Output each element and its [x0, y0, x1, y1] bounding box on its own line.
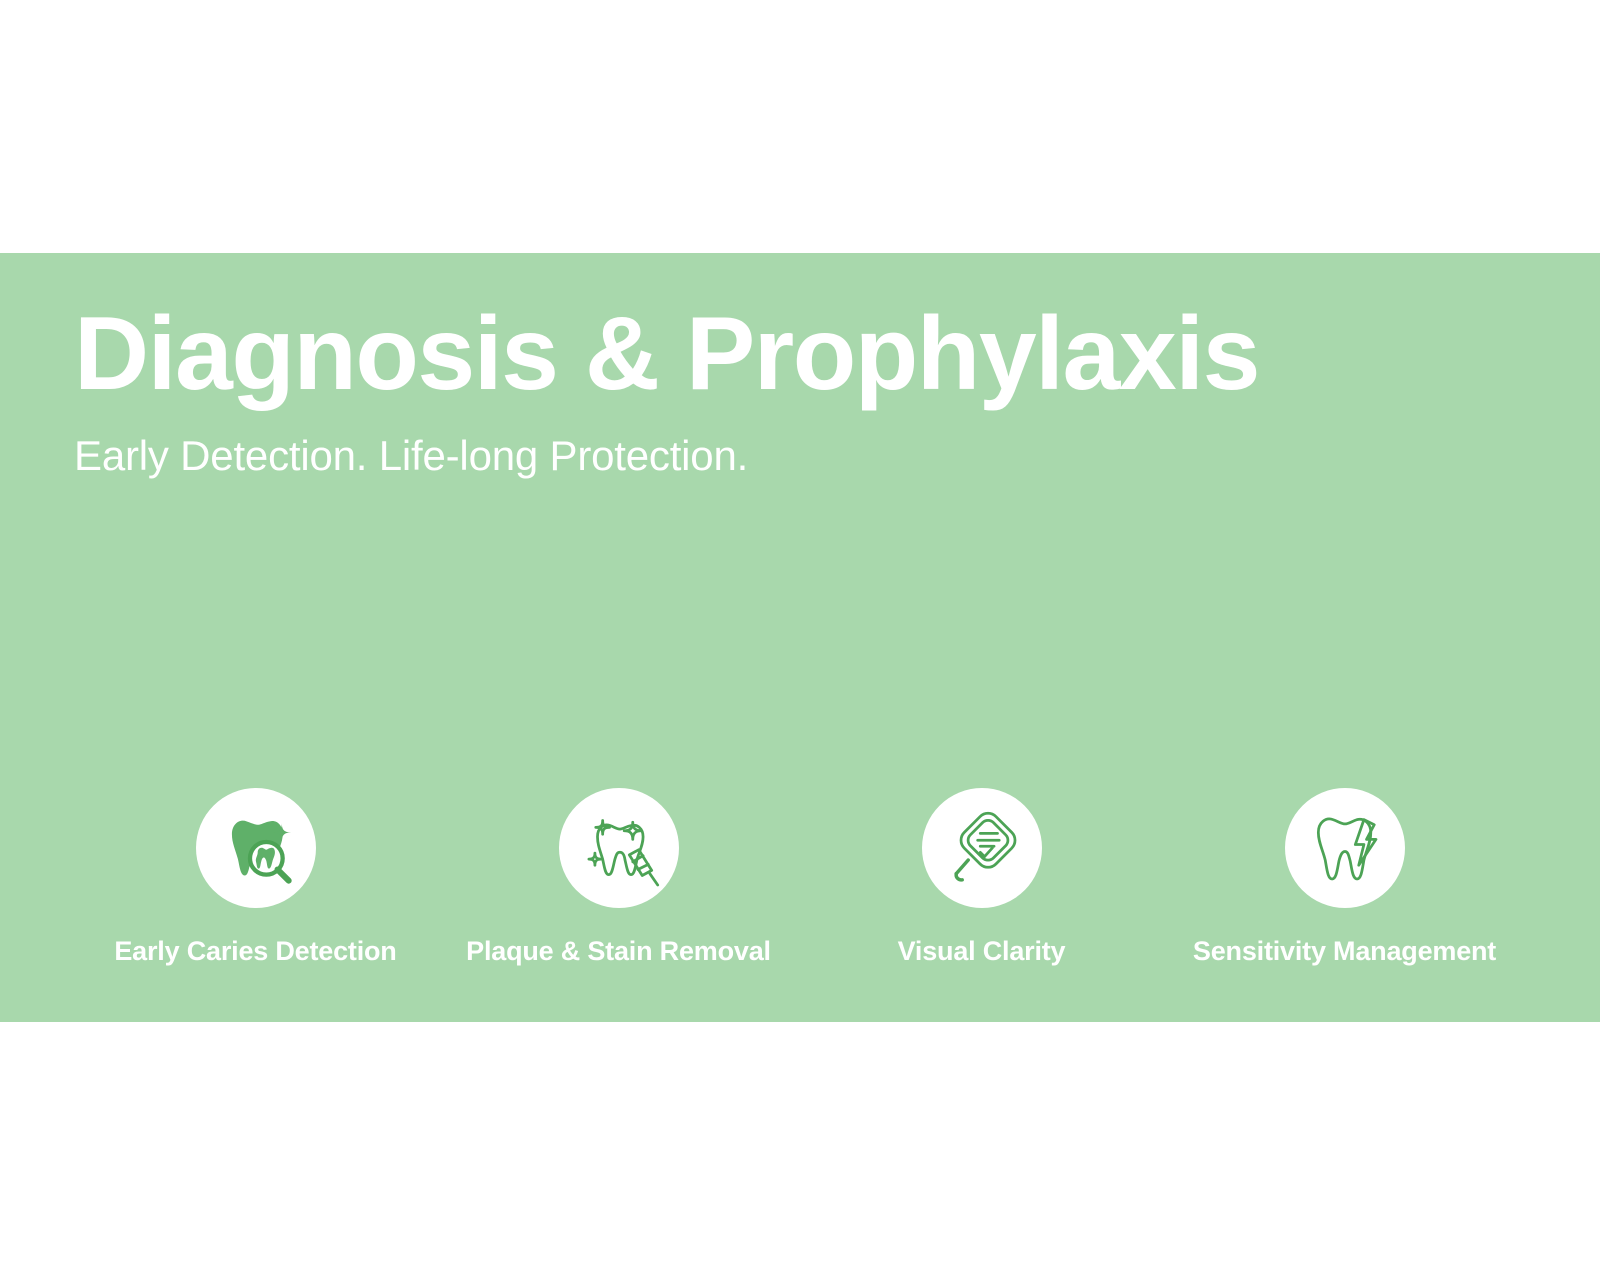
feature-row: Early Caries Detection	[74, 788, 1526, 967]
feature-badge	[196, 788, 316, 908]
feature-item-early-caries-detection[interactable]: Early Caries Detection	[74, 788, 437, 967]
page-title: Diagnosis & Prophylaxis	[74, 298, 1524, 410]
feature-badge	[559, 788, 679, 908]
hero-subtitle: Early Detection. Life-long Protection.	[74, 432, 1524, 480]
tooth-polisher-sparkles-icon	[576, 805, 662, 891]
tooth-lightning-bolt-icon	[1302, 805, 1388, 891]
magnifier-checklist-icon	[939, 805, 1025, 891]
feature-label: Plaque & Stain Removal	[466, 936, 771, 967]
feature-item-sensitivity-management[interactable]: Sensitivity Management	[1163, 788, 1526, 967]
feature-badge	[1285, 788, 1405, 908]
feature-item-visual-clarity[interactable]: Visual Clarity	[800, 788, 1163, 967]
feature-label: Visual Clarity	[898, 936, 1066, 967]
hero-panel: Diagnosis & Prophylaxis Early Detection.…	[0, 253, 1600, 1022]
feature-item-plaque-stain-removal[interactable]: Plaque & Stain Removal	[437, 788, 800, 967]
tooth-magnifier-sparkle-icon	[213, 805, 299, 891]
feature-label: Sensitivity Management	[1193, 936, 1496, 967]
feature-label: Early Caries Detection	[114, 936, 396, 967]
slide-canvas: Diagnosis & Prophylaxis Early Detection.…	[0, 0, 1600, 1280]
feature-badge	[922, 788, 1042, 908]
headline-block: Diagnosis & Prophylaxis Early Detection.…	[74, 298, 1524, 481]
